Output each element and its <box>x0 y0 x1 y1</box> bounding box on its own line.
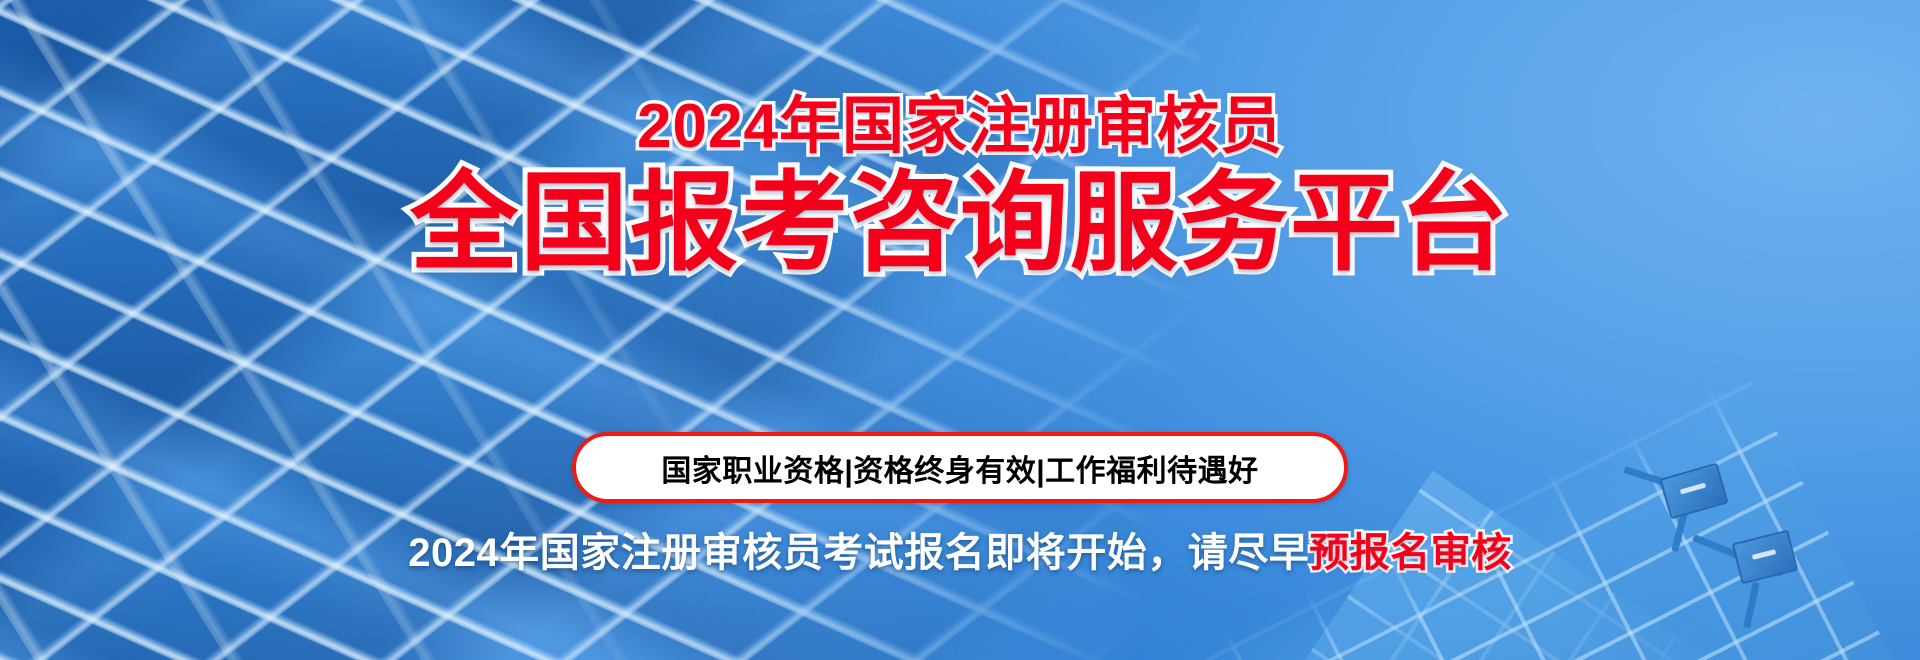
feature-pill-wrapper: 国家职业资格|资格终身有效|工作福利待遇好 <box>0 432 1920 503</box>
banner-title-line-2: 全国报考咨询服务平台 <box>0 166 1920 279</box>
tagline-primary-text: 2024年国家注册审核员考试报名即将开始，请尽早 <box>408 531 1309 575</box>
banner-content: 2024年国家注册审核员 全国报考咨询服务平台 国家职业资格|资格终身有效|工作… <box>0 0 1920 660</box>
banner-title-block: 2024年国家注册审核员 全国报考咨询服务平台 <box>0 96 1920 279</box>
feature-pill-label: 国家职业资格|资格终身有效|工作福利待遇好 <box>661 446 1258 490</box>
tagline-highlight-text: 预报名审核 <box>1309 531 1512 575</box>
banner-title-line-1: 2024年国家注册审核员 <box>0 96 1920 158</box>
feature-pill-badge[interactable]: 国家职业资格|资格终身有效|工作福利待遇好 <box>572 432 1348 503</box>
banner-tagline: 2024年国家注册审核员考试报名即将开始，请尽早预报名审核 <box>0 529 1920 577</box>
promo-banner: 2024年国家注册审核员 全国报考咨询服务平台 国家职业资格|资格终身有效|工作… <box>0 0 1920 660</box>
